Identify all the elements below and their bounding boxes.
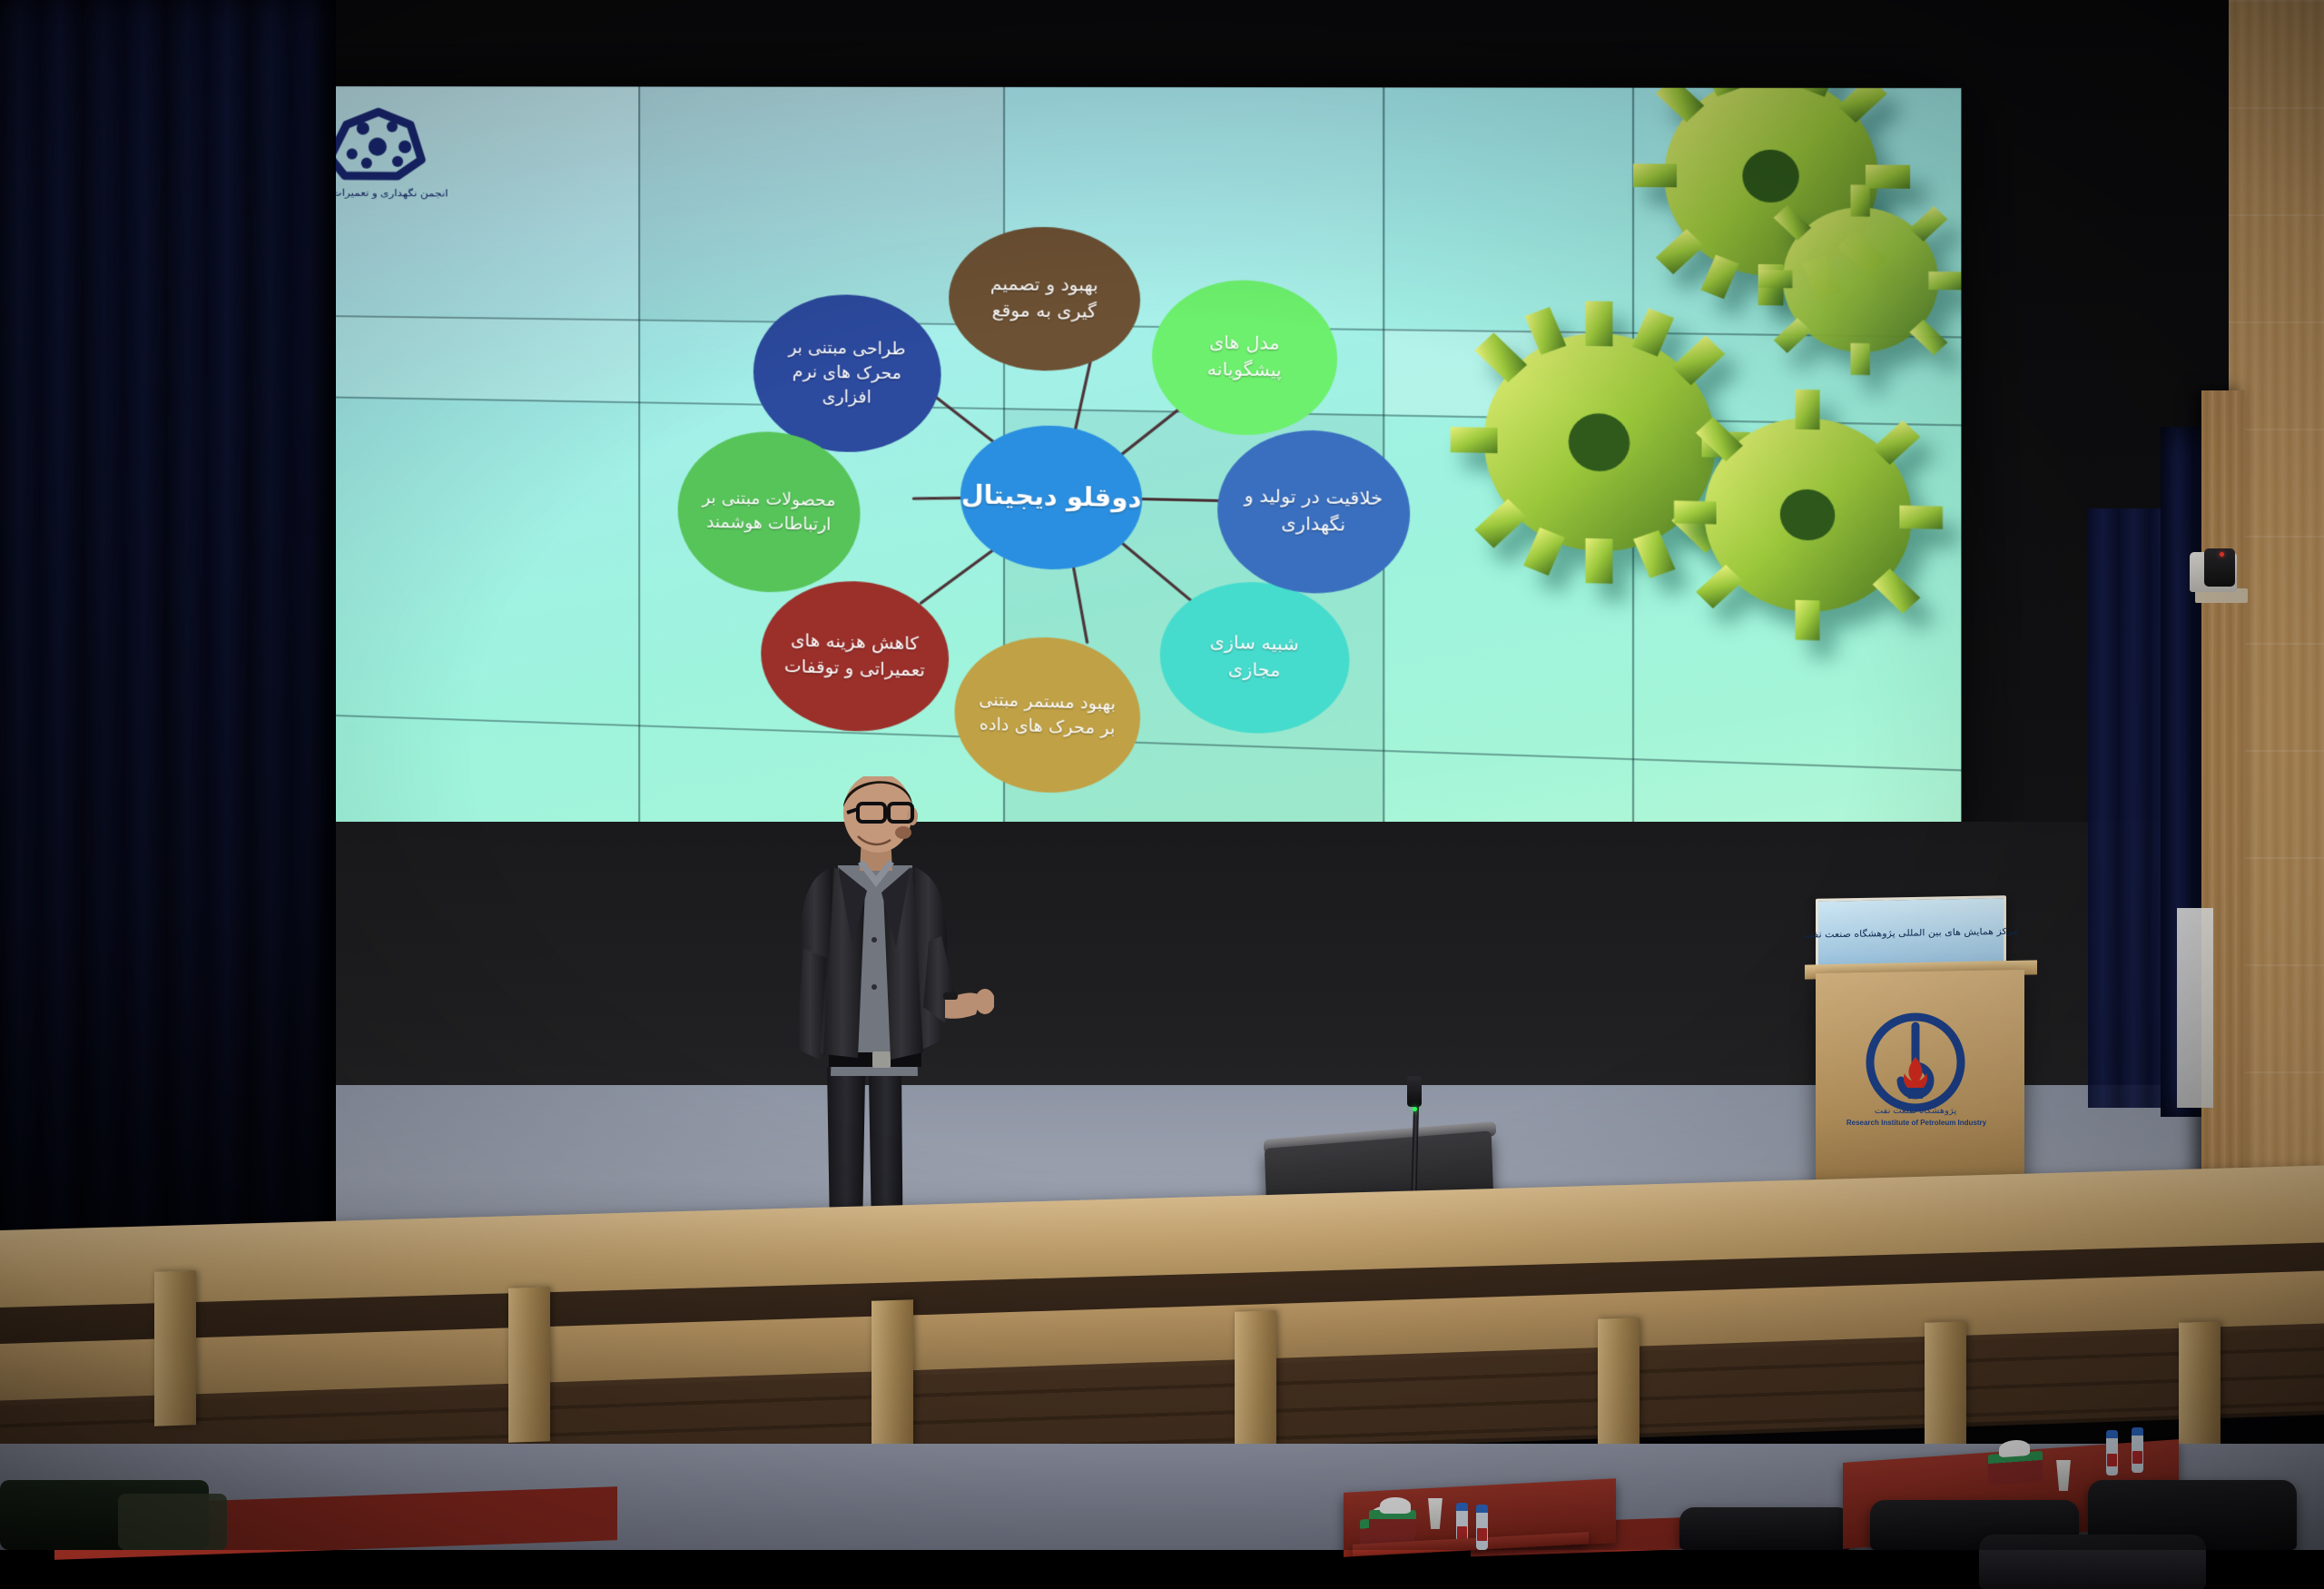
water-bottle-icon [2106,1430,2118,1475]
hub-label: دوقلو دیجیتال [961,478,1142,518]
audience-seat [1679,1507,1852,1550]
stage-curtain-right-back [2088,508,2170,1108]
water-bottle-icon [2132,1427,2143,1473]
microphone-led [1413,1107,1417,1111]
stage-curtain-left [0,0,336,1298]
node-label: بهبود مستمر مبتنی بر محرک های داده [976,688,1118,742]
diagram-node-top: بهبود و تصمیم گیری به موقع [949,226,1140,372]
institute-name-fa: پژوهشگاه صنعت نفت [1843,1107,1988,1116]
audience-seat [1979,1535,2206,1589]
rail-pillar [871,1299,913,1456]
node-label: محصولات مبتنی بر ارتباطات هوشمند [696,486,841,538]
diagram-node-left: محصولات مبتنی بر ارتباطات هوشمند [678,430,861,595]
rail-pillar [1598,1318,1640,1465]
institute-name-en: Research Institute of Petroleum Industry [1838,1119,1994,1128]
led-video-wall: انجمن نگهداری و تعمیرات ایران بهبود و تص… [254,86,1961,889]
water-bottle-icon [1476,1505,1488,1550]
node-label: شبیه سازی مجازی [1182,629,1327,686]
node-label: کاهش هزینه های تعمیراتی و توقفات [780,628,930,685]
presentation-slide: انجمن نگهداری و تعمیرات ایران بهبود و تص… [254,86,1961,889]
foreground-object [118,1494,227,1550]
tissue-box-icon [1369,1510,1416,1535]
green-gears-icon [1309,87,1961,889]
tissue-box-icon [1988,1451,2043,1485]
diagram-node-upper-left: طراحی مبتنی بر محرک های نرم افزاری [753,293,941,453]
conference-hall-scene: انجمن نگهداری و تعمیرات ایران بهبود و تص… [0,0,2324,1550]
rail-pillar [508,1287,550,1443]
venue-name-label: مرکز همایش های بین المللی پژوهشگاه صنعت … [1804,925,2018,940]
node-label: مدل های پیشگویانه [1174,331,1315,385]
ptz-camera-led [2220,552,2224,557]
diagram-hub: دوقلو دیجیتال [960,424,1142,572]
node-label: خلاقیت در تولید و نگهداری [1239,484,1388,540]
rail-pillar [1235,1310,1276,1462]
podium-sign: مرکز همایش های بین المللی پژوهشگاه صنعت … [1816,895,2006,970]
node-label: طراحی مبتنی بر محرک های نرم افزاری [773,336,922,411]
wall-screen-edge [2177,908,2213,1108]
petroleum-institute-logo-icon [1852,1010,1979,1119]
gear-shape [1656,370,1961,662]
node-label: بهبود و تصمیم گیری به موقع [970,272,1119,326]
microphone-head-icon [1407,1076,1422,1107]
diagram-node-upper-right: مدل های پیشگویانه [1152,280,1337,437]
diagram-node-bottom: بهبود مستمر مبتنی بر محرک های داده [955,635,1140,795]
rail-pillar [154,1270,196,1426]
gear-shape [1739,166,1961,395]
